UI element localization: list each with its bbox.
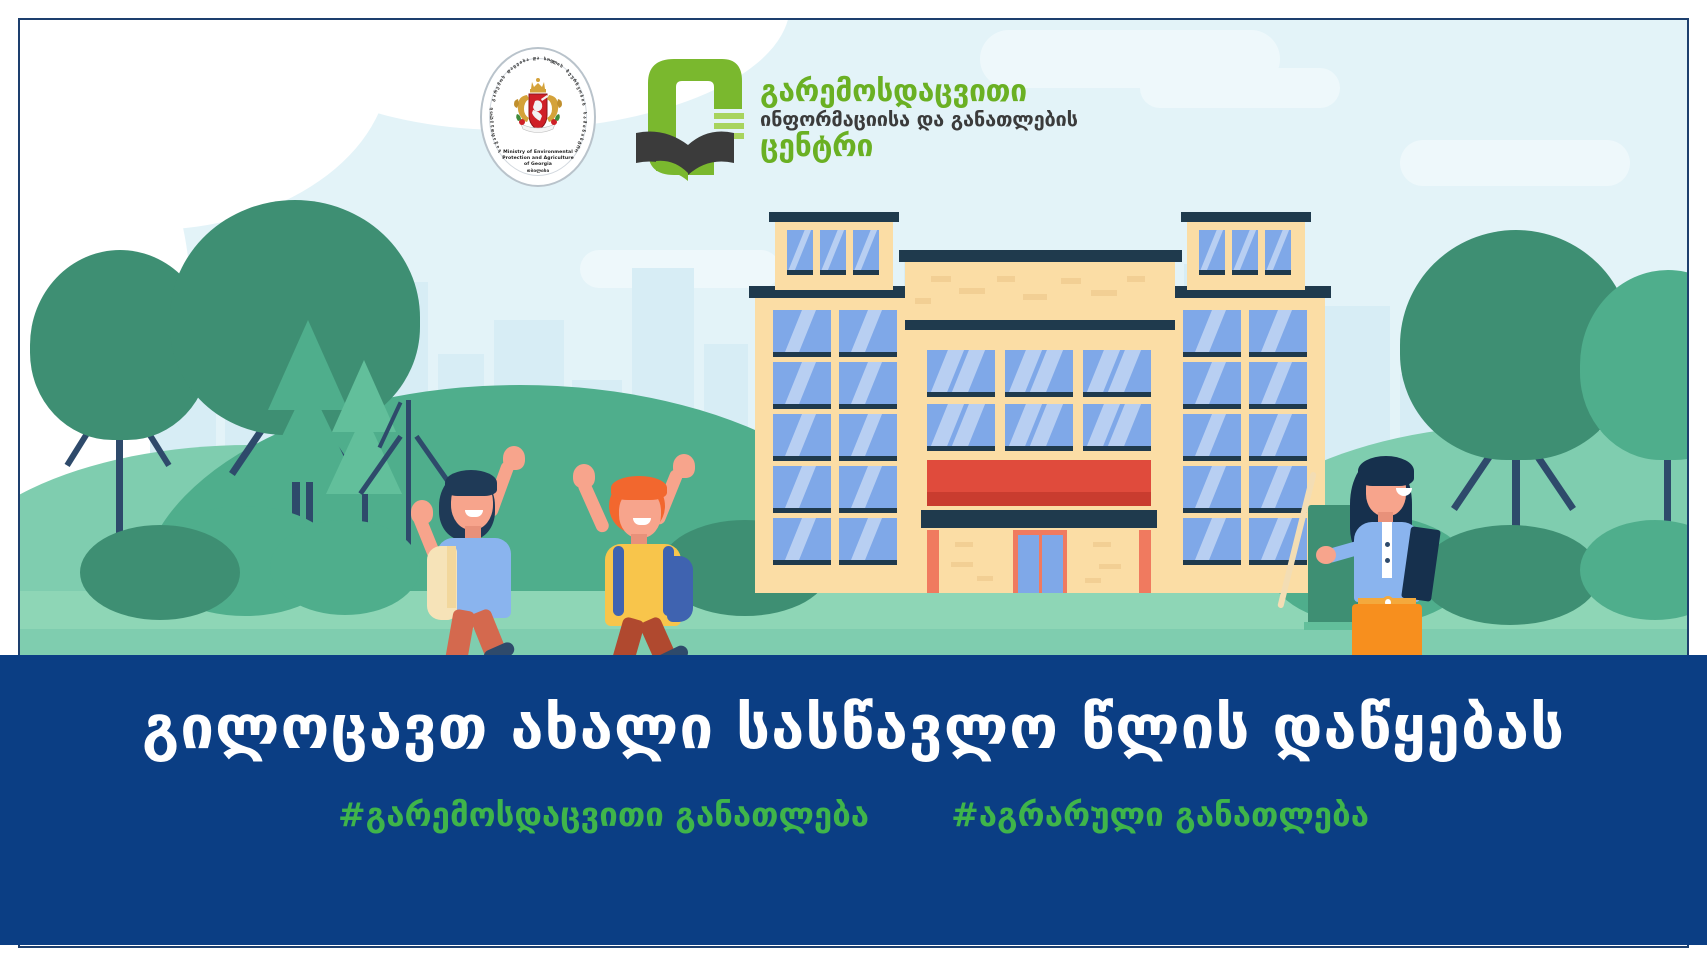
banner-headline: გილოცავთ ახალი სასწავლო წლის დაწყებას bbox=[0, 693, 1707, 763]
cloud-icon-3 bbox=[1400, 140, 1630, 186]
hashtag-agrarian-education[interactable]: #აგრარული განათლება bbox=[951, 795, 1369, 834]
cie-logo: გარემოსდაცვითი ინფორმაციისა და განათლები… bbox=[630, 53, 1078, 181]
child-boy bbox=[565, 460, 715, 655]
frame-border-bottom bbox=[18, 946, 1689, 948]
emblem-caption-line-4: თბილისი bbox=[480, 169, 596, 175]
cie-logo-line-1: გარემოსდაცვითი bbox=[760, 76, 1078, 107]
cie-logo-text: გარემოსდაცვითი ინფორმაციისა და განათლები… bbox=[760, 72, 1078, 163]
bottom-banner: გილოცავთ ახალი სასწავლო წლის დაწყებას #გ… bbox=[0, 655, 1707, 945]
ministry-emblem: საქართველოს გარემოს დაცვისა და სოფლის მე… bbox=[480, 47, 596, 187]
hashtag-row: #გარემოსდაცვითი განათლება #აგრარული განა… bbox=[0, 795, 1707, 834]
cie-logo-line-3: ცენტრი bbox=[760, 131, 1078, 162]
banner-canvas: საქართველოს გარემოს დაცვისა და სოფლის მე… bbox=[0, 0, 1707, 966]
teacher bbox=[1310, 450, 1440, 655]
school-building bbox=[755, 198, 1325, 593]
bush-3 bbox=[270, 520, 420, 615]
cie-logo-mark bbox=[630, 53, 748, 181]
cie-logo-line-2: ინფორმაციისა და განათლების bbox=[760, 108, 1078, 130]
emblem-caption: Ministry of Environmental Protection and… bbox=[480, 150, 596, 175]
georgia-coat-of-arms bbox=[505, 77, 571, 139]
school-sign-banner bbox=[927, 460, 1151, 492]
bush-2 bbox=[80, 525, 240, 620]
bush-6 bbox=[1420, 525, 1600, 625]
hashtag-environmental-education[interactable]: #გარემოსდაცვითი განათლება bbox=[338, 795, 869, 834]
child-girl bbox=[405, 450, 545, 655]
cloud-icon-2 bbox=[1140, 68, 1340, 108]
logo-bar: საქართველოს გარემოს დაცვისა და სოფლის მე… bbox=[480, 42, 1140, 192]
